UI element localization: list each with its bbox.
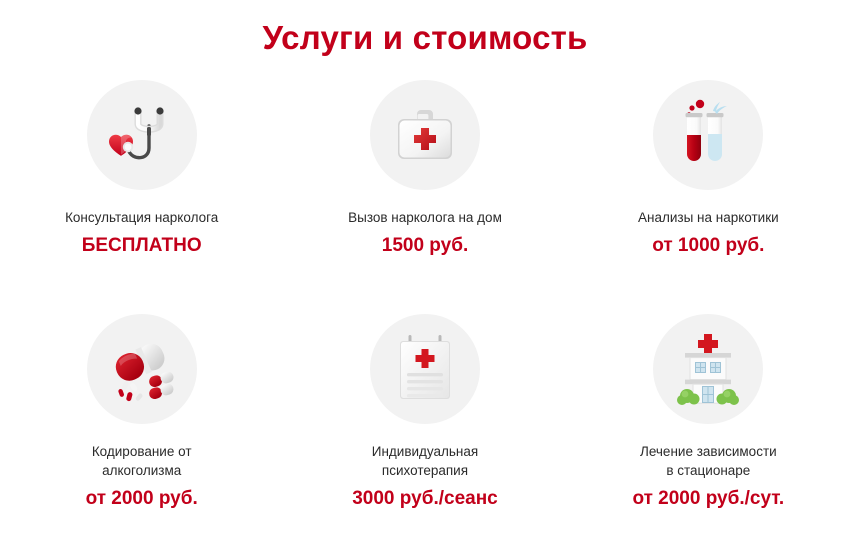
service-card-inpatient[interactable]: Лечение зависимости в стационаре от 2000… <box>567 310 850 540</box>
capsules-pills-icon <box>87 314 197 424</box>
service-card-consultation[interactable]: Консультация нарколога БЕСПЛАТНО <box>0 80 283 310</box>
service-price: от 2000 руб. <box>86 487 198 511</box>
medical-notepad-icon <box>370 314 480 424</box>
service-price: от 2000 руб./сут. <box>632 487 784 511</box>
hospital-building-icon <box>653 314 763 424</box>
service-label: Индивидуальная психотерапия <box>372 442 478 480</box>
page-title: Услуги и стоимость <box>0 0 850 58</box>
service-price: БЕСПЛАТНО <box>82 234 202 258</box>
service-price: 3000 руб./сеанс <box>352 487 498 511</box>
service-price: от 1000 руб. <box>652 234 764 258</box>
service-price: 1500 руб. <box>382 234 468 258</box>
service-label: Вызов нарколога на дом <box>348 208 502 227</box>
service-card-coding[interactable]: Кодирование от алкоголизма от 2000 руб. <box>0 310 283 540</box>
service-label: Консультация нарколога <box>65 208 218 227</box>
services-grid: Консультация нарколога БЕСПЛАТНО <box>0 80 850 540</box>
service-card-home-visit[interactable]: Вызов нарколога на дом 1500 руб. <box>283 80 566 310</box>
test-tubes-icon <box>653 80 763 190</box>
first-aid-kit-icon <box>370 80 480 190</box>
service-label: Кодирование от алкоголизма <box>92 442 192 480</box>
service-label: Лечение зависимости в стационаре <box>640 442 777 480</box>
stethoscope-heart-icon <box>87 80 197 190</box>
service-card-psychotherapy[interactable]: Индивидуальная психотерапия 3000 руб./се… <box>283 310 566 540</box>
service-label: Анализы на наркотики <box>638 208 779 227</box>
service-card-drug-tests[interactable]: Анализы на наркотики от 1000 руб. <box>567 80 850 310</box>
